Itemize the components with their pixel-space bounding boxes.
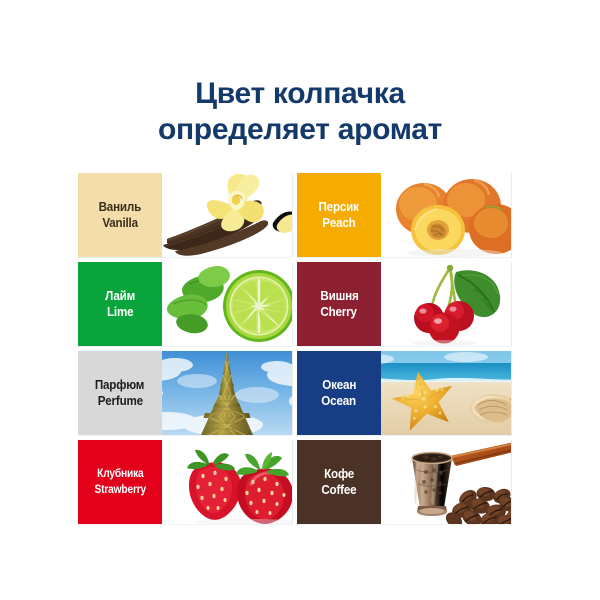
strawberries-icon <box>162 440 292 524</box>
lime-slice-with-mint-icon <box>162 262 292 346</box>
flavor-label-ru-cherry: Вишня <box>320 288 358 304</box>
flavor-label-en-ocean: Ocean <box>322 393 357 409</box>
flavor-label-en-coffee: Coffee <box>321 482 356 498</box>
flavor-label-ru-strawberry: Клубника <box>97 466 143 482</box>
flavor-label-ru-coffee: Кофе <box>324 466 354 482</box>
page-title-line-1: Цвет колпачка <box>0 76 600 112</box>
swatch-perfume: Парфюм Perfume <box>78 351 162 435</box>
page-title-line-2: определяет аромат <box>0 112 600 148</box>
swatch-vanilla: Ваниль Vanilla <box>78 173 162 257</box>
flavor-image-perfume <box>162 351 292 435</box>
flavor-cell-lime[interactable]: Лайм Lime <box>78 262 293 347</box>
flavor-image-strawberry <box>162 440 292 524</box>
flavor-label-ru-peach: Персик <box>319 199 359 215</box>
swatch-coffee: Кофе Coffee <box>297 440 381 524</box>
flavor-label-ru-ocean: Океан <box>322 377 356 393</box>
flavor-image-lime <box>162 262 292 346</box>
flavor-image-vanilla <box>162 173 292 257</box>
flavor-image-ocean <box>381 351 511 435</box>
flavor-cell-vanilla[interactable]: Ваниль Vanilla <box>78 173 293 258</box>
flavor-cell-ocean[interactable]: Океан Ocean <box>297 351 512 436</box>
swatch-lime: Лайм Lime <box>78 262 162 346</box>
flavor-label-ru-vanilla: Ваниль <box>99 199 141 215</box>
flavor-grid: Ваниль Vanilla <box>78 173 512 525</box>
flavor-image-peach <box>381 173 511 257</box>
flavor-label-ru-lime: Лайм <box>105 288 135 304</box>
swatch-strawberry: Клубника Strawberry <box>78 440 162 524</box>
flavor-label-en-cherry: Cherry <box>321 304 357 320</box>
flavor-image-coffee <box>381 440 511 524</box>
cezve-with-coffee-beans-icon <box>381 440 511 524</box>
swatch-cherry: Вишня Cherry <box>297 262 381 346</box>
flavor-label-en-vanilla: Vanilla <box>102 215 138 231</box>
eiffel-tower-icon <box>162 351 292 435</box>
flavor-label-en-lime: Lime <box>107 304 133 320</box>
flavor-cell-strawberry[interactable]: Клубника Strawberry <box>78 440 293 525</box>
flavor-image-cherry <box>381 262 511 346</box>
starfish-and-shells-on-beach-icon <box>381 351 511 435</box>
flavor-label-ru-perfume: Парфюм <box>95 377 144 393</box>
flavor-cell-perfume[interactable]: Парфюм Perfume <box>78 351 293 436</box>
swatch-peach: Персик Peach <box>297 173 381 257</box>
vanilla-flower-and-pods-icon <box>162 173 292 257</box>
flavor-cell-peach[interactable]: Персик Peach <box>297 173 512 258</box>
flavor-label-en-strawberry: Strawberry <box>94 482 146 498</box>
flavor-cell-coffee[interactable]: Кофе Coffee <box>297 440 512 525</box>
cherries-with-leaf-icon <box>381 262 511 346</box>
page-title: Цвет колпачка определяет аромат <box>0 76 600 148</box>
flavor-cell-cherry[interactable]: Вишня Cherry <box>297 262 512 347</box>
swatch-ocean: Океан Ocean <box>297 351 381 435</box>
flavor-label-en-peach: Peach <box>322 215 355 231</box>
peaches-icon <box>381 173 511 257</box>
flavor-label-en-perfume: Perfume <box>97 393 142 409</box>
cezve-body <box>412 453 452 517</box>
lime-half <box>223 270 292 342</box>
